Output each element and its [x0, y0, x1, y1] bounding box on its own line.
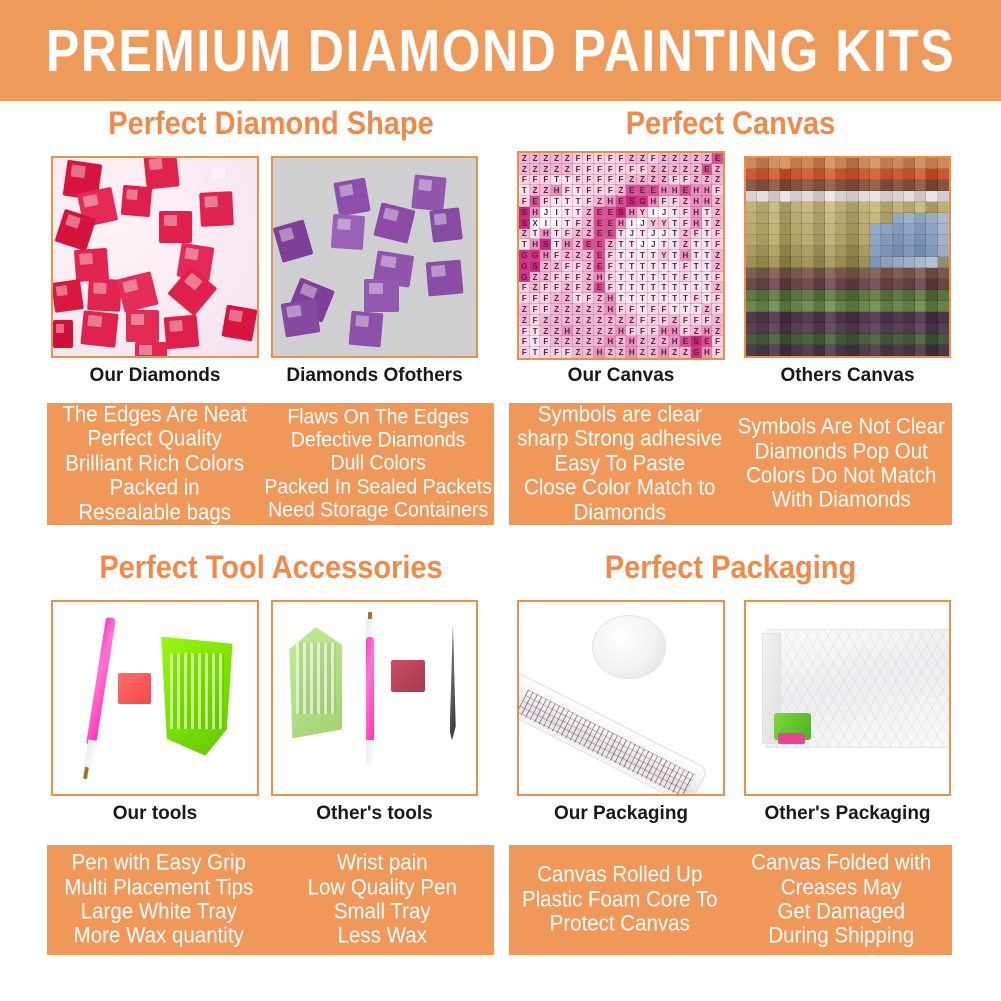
canvas-pixel-cell [893, 235, 904, 246]
canvas-pixel-cell [893, 257, 904, 268]
canvas-pixel-cell [881, 334, 892, 345]
canvas-symbol-cell: J [540, 207, 551, 218]
canvas-pixel-cell [881, 268, 892, 279]
canvas-symbol-cell: Z [691, 164, 702, 175]
canvas-symbol-cell: I [551, 218, 562, 229]
pen-tip [366, 619, 374, 638]
panel-line: The Edges Are Neat [62, 402, 247, 428]
canvas-symbol-cell: F [605, 250, 616, 261]
canvas-pixel-cell [757, 235, 768, 246]
canvas-pixel-cell [802, 213, 813, 224]
wax-square [118, 673, 151, 704]
canvas-symbol-cell: S [519, 218, 530, 229]
canvas-pixel-cell [859, 202, 870, 213]
canvas-symbol-cell: Z [637, 175, 648, 186]
canvas-pixel-cell [881, 312, 892, 323]
canvas-symbol-cell: F [562, 272, 573, 283]
image-card-our-tools [51, 600, 259, 796]
canvas-symbol-cell: H [562, 326, 573, 337]
canvas-pixel-cell [847, 301, 858, 312]
canvas-symbol-cell: Z [540, 315, 551, 326]
canvas-symbol-cell: F [583, 185, 594, 196]
canvas-symbol-cell: T [669, 282, 680, 293]
canvas-symbol-cell: T [648, 261, 659, 272]
panel-line: Canvas Rolled Up [537, 863, 702, 889]
panel-line: Low Quality Pen [308, 875, 457, 901]
canvas-pixel-cell [791, 202, 802, 213]
canvas-symbol-cell: Z [702, 153, 713, 164]
canvas-symbol-cell: F [712, 185, 723, 196]
canvas-symbol-cell: H [659, 326, 670, 337]
canvas-pixel-cell [915, 301, 926, 312]
canvas-pixel-cell [915, 191, 926, 202]
canvas-pixel-cell [893, 312, 904, 323]
canvas-symbol-cell: Z [583, 272, 594, 283]
canvas-symbol-cell: I [626, 218, 637, 229]
panel-line: Packed In Sealed Packets [264, 475, 492, 500]
canvas-pixel-cell [814, 235, 825, 246]
canvas-pixel-cell [870, 312, 881, 323]
canvas-symbol-cell: Z [551, 293, 562, 304]
canvas-symbol-cell: Z [648, 336, 659, 347]
canvas-symbol-cell: Z [626, 153, 637, 164]
canvas-pixel-cell [904, 158, 915, 169]
canvas-pixel-cell [915, 323, 926, 334]
canvas-symbol-cell: F [680, 315, 691, 326]
canvas-symbol-cell: H [669, 336, 680, 347]
canvas-pixel-cell [757, 246, 768, 257]
canvas-symbol-cell: T [562, 207, 573, 218]
canvas-symbol-cell: Z [519, 304, 530, 315]
canvas-symbol-cell: Z [659, 175, 670, 186]
canvas-pixel-cell [893, 246, 904, 257]
canvas-symbol-cell: F [594, 164, 605, 175]
panel-line: Perfect Quality [87, 427, 221, 453]
canvas-pixel-cell [938, 345, 949, 356]
image-card-our-canvas: ZZZZZFFFFFZZFZZZZZEZZZZZFFFFFFFZZZZZEZFF… [517, 151, 725, 360]
canvas-pixel-cell [893, 180, 904, 191]
canvas-symbol-cell: T [648, 282, 659, 293]
canvas-pixel-cell [825, 334, 836, 345]
canvas-symbol-cell: H [616, 218, 627, 229]
canvas-symbol-cell: Y [648, 218, 659, 229]
canvas-symbol-cell: Z [583, 282, 594, 293]
panel-line: Protect Canvas [550, 911, 690, 937]
canvas-symbol-cell: F [540, 175, 551, 186]
canvas-symbol-cell: Z [616, 185, 627, 196]
canvas-pixel-cell [904, 312, 915, 323]
canvas-symbol-cell: F [519, 175, 530, 186]
canvas-pixel-cell [847, 202, 858, 213]
canvas-pixel-cell [893, 191, 904, 202]
canvas-symbol-cell: T [616, 239, 627, 250]
canvas-pixel-cell [757, 180, 768, 191]
canvas-symbol-cell: T [669, 229, 680, 240]
canvas-symbol-cell: Z [702, 304, 713, 315]
canvas-symbol-cell: F [712, 239, 723, 250]
canvas-symbol-cell: Z [712, 250, 723, 261]
canvas-pixel-cell [825, 345, 836, 356]
canvas-symbol-cell: E [616, 196, 627, 207]
canvas-symbol-cell: Z [540, 272, 551, 283]
canvas-symbol-cell: F [648, 315, 659, 326]
pen-cap [366, 740, 374, 765]
canvas-pixel-cell [915, 213, 926, 224]
canvas-pixel-cell [847, 268, 858, 279]
canvas-pixel-cell [802, 334, 813, 345]
canvas-symbol-cell: G [530, 250, 541, 261]
canvas-pixel-cell [757, 202, 768, 213]
canvas-symbol-cell: F [680, 272, 691, 283]
canvas-symbol-cell: Z [540, 261, 551, 272]
panel-line: Get Damaged [777, 899, 905, 925]
canvas-pixel-cell [859, 191, 870, 202]
canvas-pixel-cell [870, 323, 881, 334]
canvas-symbol-cell: G [519, 261, 530, 272]
canvas-symbol-cell: H [562, 239, 573, 250]
canvas-pixel-cell [904, 169, 915, 180]
canvas-pixel-cell [746, 334, 757, 345]
canvas-symbol-cell: F [540, 293, 551, 304]
wax-square [391, 660, 426, 693]
canvas-symbol-cell: Z [712, 218, 723, 229]
canvas-symbol-cell: T [702, 293, 713, 304]
canvas-pixel-cell [791, 301, 802, 312]
canvas-symbol-cell: F [519, 347, 530, 358]
canvas-symbol-cell: F [594, 175, 605, 186]
canvas-pixel-cell [881, 290, 892, 301]
canvas-pixel-cell [757, 290, 768, 301]
canvas-pixel-cell [859, 301, 870, 312]
canvas-pixel-cell [870, 158, 881, 169]
canvas-pixel-cell [769, 235, 780, 246]
caption-our-diamonds: Our Diamonds [51, 365, 259, 387]
canvas-symbol-cell: H [659, 185, 670, 196]
canvas-pixel-cell [780, 290, 791, 301]
canvas-symbol-cell: Y [659, 218, 670, 229]
canvas-symbol-cell: T [659, 272, 670, 283]
canvas-pixel-cell [881, 323, 892, 334]
canvas-symbol-cell: F [573, 218, 584, 229]
canvas-pixel-cell [814, 323, 825, 334]
canvas-symbol-cell: T [616, 293, 627, 304]
canvas-symbol-cell: F [616, 153, 627, 164]
canvas-symbol-cell: Z [691, 153, 702, 164]
canvas-symbol-cell: G [637, 196, 648, 207]
canvas-pixel-cell [746, 323, 757, 334]
canvas-pixel-cell [904, 235, 915, 246]
canvas-symbol-cell: Z [573, 347, 584, 358]
canvas-pixel-cell [814, 279, 825, 290]
canvas-pixel-cell [904, 345, 915, 356]
canvas-symbol-cell: Z [573, 326, 584, 337]
canvas-pixel-cell [757, 169, 768, 180]
canvas-symbol-cell: T [562, 196, 573, 207]
canvas-symbol-cell: Z [573, 336, 584, 347]
canvas-pixel-cell [915, 268, 926, 279]
canvas-symbol-cell: F [637, 315, 648, 326]
canvas-symbol-cell: Z [659, 164, 670, 175]
canvas-pixel-cell [881, 158, 892, 169]
canvas-pixel-cell [926, 279, 937, 290]
canvas-pixel-cell [791, 345, 802, 356]
canvas-pixel-cell [859, 345, 870, 356]
canvas-pixel-cell [859, 279, 870, 290]
canvas-pixel-cell [938, 268, 949, 279]
canvas-symbol-cell: F [659, 304, 670, 315]
canvas-symbol-cell: Z [540, 326, 551, 337]
canvas-pixel-cell [893, 345, 904, 356]
pen-needle [83, 767, 89, 779]
canvas-pixel-cell [915, 202, 926, 213]
canvas-symbol-cell: F [616, 164, 627, 175]
canvas-pixel-cell [938, 235, 949, 246]
canvas-symbol-cell: Y [637, 207, 648, 218]
canvas-pixel-cell [757, 301, 768, 312]
canvas-symbol-cell: F [648, 304, 659, 315]
canvas-symbol-cell: E [648, 185, 659, 196]
canvas-symbol-cell: G [519, 272, 530, 283]
panel-line: Wrist pain [337, 850, 428, 876]
canvas-symbol-cell: F [562, 261, 573, 272]
canvas-pixel-cell [847, 290, 858, 301]
canvas-symbol-cell: T [637, 293, 648, 304]
canvas-pixel-cell [825, 268, 836, 279]
canvas-pixel-cell [926, 268, 937, 279]
canvas-pixel-cell [904, 213, 915, 224]
canvas-pixel-cell [870, 334, 881, 345]
canvas-symbol-cell: E [637, 185, 648, 196]
canvas-symbol-cell: T [680, 304, 691, 315]
canvas-pixel-cell [814, 224, 825, 235]
canvas-pixel-cell [938, 169, 949, 180]
canvas-symbol-cell: F [637, 326, 648, 337]
canvas-symbol-cell: T [530, 336, 541, 347]
canvas-pixel-cell [814, 345, 825, 356]
canvas-pixel-cell [870, 246, 881, 257]
canvas-pixel-cell [881, 257, 892, 268]
canvas-symbol-cell: J [626, 229, 637, 240]
canvas-pixel-cell [769, 312, 780, 323]
canvas-pixel-cell [802, 290, 813, 301]
canvas-pixel-cell [780, 191, 791, 202]
image-card-others-diamonds [271, 156, 478, 358]
canvas-symbol-cell: T [702, 207, 713, 218]
canvas-symbol-cell: Z [562, 153, 573, 164]
canvas-pixel-cell [757, 345, 768, 356]
canvas-pixel-cell [847, 345, 858, 356]
canvas-symbol-cell: H [702, 185, 713, 196]
canvas-pixel-cell [746, 158, 757, 169]
canvas-pixel-cell [836, 268, 847, 279]
panel-line: Flaws On The Edges [287, 405, 469, 430]
canvas-symbol-cell: F [562, 185, 573, 196]
canvas-pixel-cell [780, 323, 791, 334]
canvas-pixel-cell [926, 224, 937, 235]
panel-col-ours-tools: Pen with Easy Grip Multi Placement Tips … [47, 845, 271, 955]
canvas-symbol-cell: Z [648, 164, 659, 175]
canvas-pixel-cell [814, 169, 825, 180]
canvas-symbol-cell: Z [712, 282, 723, 293]
canvas-symbol-cell: Z [637, 336, 648, 347]
canvas-pixel-cell [847, 158, 858, 169]
canvas-symbol-cell: H [702, 347, 713, 358]
canvas-symbol-cell: T [530, 326, 541, 337]
image-card-others-canvas [744, 156, 951, 358]
canvas-pixel-cell [881, 202, 892, 213]
canvas-pixel-cell [938, 191, 949, 202]
canvas-symbol-cell: F [519, 293, 530, 304]
canvas-pixel-cell [791, 158, 802, 169]
canvas-pixel-cell [904, 323, 915, 334]
canvas-pixel-cell [893, 213, 904, 224]
canvas-symbol-cell: T [691, 239, 702, 250]
canvas-pixel-cell [780, 279, 791, 290]
canvas-symbol-cell: F [562, 229, 573, 240]
canvas-symbol-cell: F [573, 261, 584, 272]
canvas-symbol-cell: F [573, 175, 584, 186]
canvas-symbol-cell: Z [583, 250, 594, 261]
canvas-pixel-cell [825, 169, 836, 180]
canvas-pixel-cell [836, 334, 847, 345]
canvas-symbol-cell: S [691, 336, 702, 347]
photo-others-tools [273, 602, 476, 794]
canvas-pixel-cell [791, 180, 802, 191]
canvas-symbol-cell: H [594, 272, 605, 283]
canvas-pixel-cell [893, 323, 904, 334]
canvas-pixel-cell [870, 191, 881, 202]
canvas-symbol-cell: Z [712, 164, 723, 175]
canvas-pixel-cell [769, 334, 780, 345]
canvas-pixel-cell [870, 180, 881, 191]
canvas-symbol-cell: Z [712, 207, 723, 218]
canvas-pixel-cell [825, 323, 836, 334]
canvas-pixel-cell [791, 213, 802, 224]
canvas-symbol-cell: E [605, 207, 616, 218]
canvas-pixel-cell [893, 202, 904, 213]
canvas-symbol-cell: Z [519, 153, 530, 164]
canvas-symbol-cell: T [659, 261, 670, 272]
canvas-pixel-cell [870, 290, 881, 301]
canvas-pixel-cell [780, 202, 791, 213]
canvas-pixel-cell [802, 224, 813, 235]
canvas-symbol-cell: S [540, 239, 551, 250]
canvas-pixel-cell [825, 246, 836, 257]
canvas-symbol-cell: Z [691, 175, 702, 186]
caption-others-tools: Other's tools [271, 803, 478, 825]
canvas-symbol-cell: F [551, 272, 562, 283]
canvas-symbol-cell: E [594, 229, 605, 240]
panel-col-others-diamond-shape: Flaws On The Edges Defective Diamonds Du… [262, 403, 494, 525]
canvas-pixel-cell [791, 169, 802, 180]
canvas-symbol-cell: Z [669, 164, 680, 175]
canvas-pixel-cell [814, 312, 825, 323]
canvas-pixel-cell [746, 213, 757, 224]
canvas-symbol-cell: T [626, 250, 637, 261]
canvas-symbol-cell: E [594, 218, 605, 229]
canvas-symbol-cell: F [519, 282, 530, 293]
canvas-symbol-cell: Z [562, 304, 573, 315]
canvas-pixel-cell [825, 257, 836, 268]
panel-line: Symbols are clear [538, 402, 702, 428]
canvas-symbol-cell: F [605, 282, 616, 293]
canvas-symbol-cell: H [626, 347, 637, 358]
canvas-symbol-cell: F [605, 164, 616, 175]
canvas-symbol-cell: F [583, 175, 594, 186]
canvas-pixel-cell [847, 257, 858, 268]
canvas-pixel-cell [847, 213, 858, 224]
canvas-pixel-cell [915, 224, 926, 235]
canvas-symbol-cell: Z [712, 175, 723, 186]
canvas-pixel-cell [825, 235, 836, 246]
canvas-pixel-cell [893, 224, 904, 235]
canvas-symbol-cell: F [669, 175, 680, 186]
canvas-symbol-cell: Z [562, 250, 573, 261]
canvas-pixel-cell [859, 334, 870, 345]
canvas-symbol-cell: Z [594, 293, 605, 304]
canvas-symbol-cell: F [691, 229, 702, 240]
canvas-symbol-cell: T [573, 207, 584, 218]
canvas-symbol-cell: Z [551, 315, 562, 326]
canvas-pixel-cell [881, 345, 892, 356]
canvas-symbol-cell: T [551, 196, 562, 207]
canvas-symbol-cell: H [605, 293, 616, 304]
panel-line: Dull Colors [331, 452, 426, 477]
canvas-pixel-cell [870, 213, 881, 224]
canvas-pixel-cell [746, 191, 757, 202]
canvas-pixel-cell [746, 290, 757, 301]
canvas-pixel-cell [881, 224, 892, 235]
canvas-pixel-cell [926, 202, 937, 213]
canvas-symbol-cell: F [530, 175, 541, 186]
canvas-pixel-cell [847, 279, 858, 290]
canvas-pixel-cell [769, 268, 780, 279]
canvas-symbol-cell: Z [712, 326, 723, 337]
canvas-pixel-cell [904, 180, 915, 191]
canvas-symbol-cell: Z [551, 336, 562, 347]
canvas-pixel-cell [859, 268, 870, 279]
canvas-pixel-cell [904, 257, 915, 268]
panel-line: Resealable bags [78, 500, 231, 526]
canvas-symbol-cell: H [691, 196, 702, 207]
canvas-symbol-cell: E [702, 164, 713, 175]
canvas-symbol-cell: T [669, 207, 680, 218]
canvas-symbol-cell: Z [680, 239, 691, 250]
canvas-pixel-cell [915, 169, 926, 180]
canvas-symbol-cell: T [573, 196, 584, 207]
canvas-pixel-cell [915, 235, 926, 246]
canvas-symbol-cell: H [669, 326, 680, 337]
canvas-symbol-cell: Z [551, 164, 562, 175]
rolled-canvas-tube [517, 670, 709, 796]
canvas-pixel-cell [802, 301, 813, 312]
canvas-symbol-cell: E [605, 229, 616, 240]
canvas-symbol-cell: Z [583, 218, 594, 229]
canvas-pixel-cell [802, 158, 813, 169]
tweezers [450, 625, 456, 740]
canvas-symbol-cell: H [530, 239, 541, 250]
canvas-pixel-cell [780, 224, 791, 235]
canvas-pixel-cell [780, 158, 791, 169]
canvas-symbol-cell: H [605, 304, 616, 315]
canvas-symbol-cell: H [702, 196, 713, 207]
canvas-symbol-cell: Z [594, 315, 605, 326]
canvas-symbol-cell: Z [637, 347, 648, 358]
canvas-pixel-cell [746, 279, 757, 290]
canvas-symbol-cell: Z [551, 326, 562, 337]
canvas-symbol-cell: H [540, 229, 551, 240]
canvas-symbol-cell: T [573, 293, 584, 304]
